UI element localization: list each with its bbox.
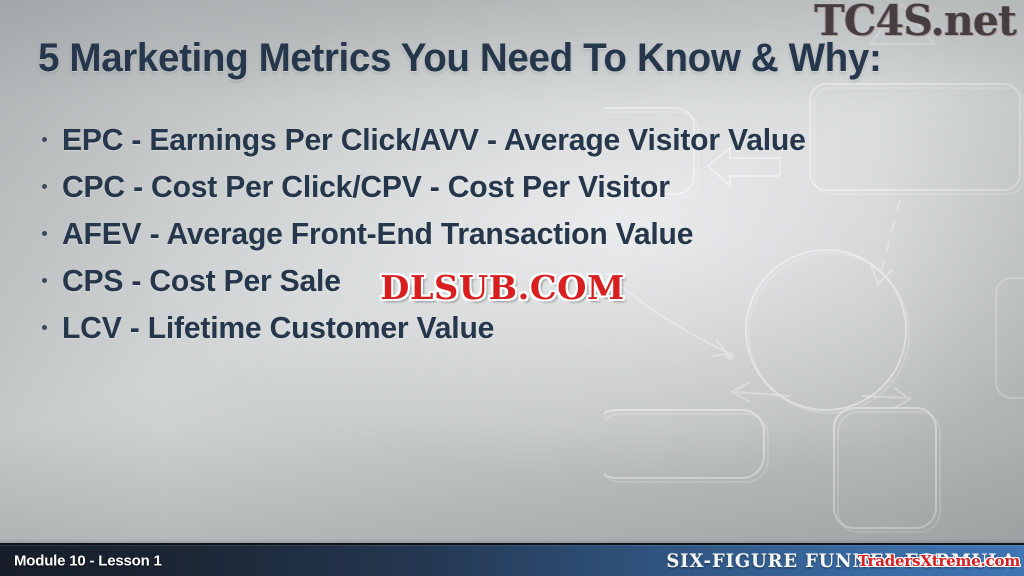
bullet-marker-icon (38, 126, 62, 152)
list-item: AFEV - Average Front-End Transaction Val… (38, 216, 998, 263)
list-item: LCV - Lifetime Customer Value (38, 310, 998, 357)
bullet-marker-icon (38, 220, 62, 246)
watermark-tc4s: TC4S.net (814, 0, 1016, 45)
bullet-marker-icon (38, 314, 62, 340)
watermark-dlsub: DLSUB.COM (374, 267, 631, 310)
list-item-label: CPS - Cost Per Sale (62, 263, 341, 299)
list-item: EPC - Earnings Per Click/AVV - Average V… (38, 122, 998, 169)
bullet-marker-icon (38, 173, 62, 199)
watermark-tradersxtreme: TradersXtreme.com (858, 552, 1020, 570)
list-item-label: CPC - Cost Per Click/CPV - Cost Per Visi… (62, 169, 670, 205)
footer-bar: Module 10 - Lesson 1 SIX-FIGURE FUNNEL F… (0, 543, 1024, 576)
metrics-list: EPC - Earnings Per Click/AVV - Average V… (38, 122, 998, 357)
list-item: CPC - Cost Per Click/CPV - Cost Per Visi… (38, 169, 998, 216)
lesson-label: Module 10 - Lesson 1 (14, 552, 162, 569)
page-title: 5 Marketing Metrics You Need To Know & W… (38, 36, 881, 81)
list-item-label: AFEV - Average Front-End Transaction Val… (62, 216, 693, 252)
list-item-label: EPC - Earnings Per Click/AVV - Average V… (62, 122, 806, 158)
list-item-label: LCV - Lifetime Customer Value (62, 310, 494, 346)
slide-canvas: 5 Marketing Metrics You Need To Know & W… (0, 0, 1024, 576)
bullet-marker-icon (38, 267, 62, 293)
